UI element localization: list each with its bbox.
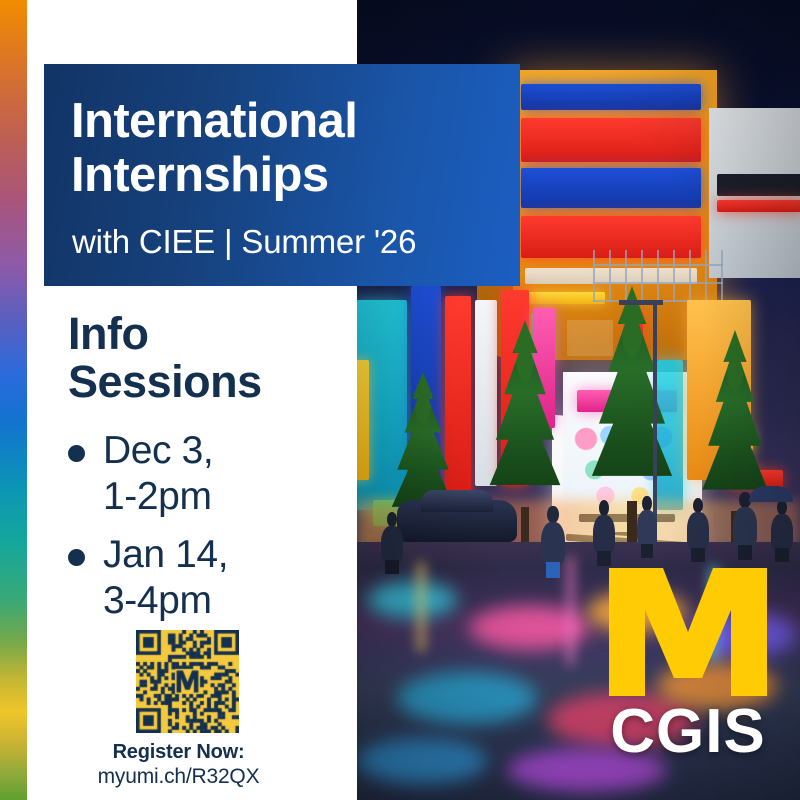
pedestrian (687, 498, 709, 562)
info-heading-line-1: Info (68, 310, 348, 358)
umich-cgis-logo: CGIS (588, 566, 788, 776)
pedestrian (771, 500, 793, 562)
rainbow-gradient-strip (0, 0, 27, 800)
registration-qr-code[interactable] (136, 630, 239, 733)
info-sessions-block: Info Sessions Dec 3, 1-2pm Jan 14, 3-4pm (68, 310, 348, 636)
car-roof (421, 490, 493, 512)
qr-code-canvas[interactable] (136, 630, 239, 733)
session-text: Jan 14, 3-4pm (103, 532, 228, 624)
session-text: Dec 3, 1-2pm (103, 428, 213, 520)
umbrella (749, 486, 793, 502)
pedestrian (593, 500, 615, 566)
session-date: Jan 14, (103, 532, 228, 578)
list-item: Dec 3, 1-2pm (68, 428, 348, 520)
session-time: 1-2pm (103, 474, 213, 520)
title-line-2: Internships (44, 148, 520, 202)
tree (573, 286, 691, 562)
info-heading-line-2: Sessions (68, 358, 348, 406)
register-label: Register Now: (0, 740, 357, 764)
session-list: Dec 3, 1-2pm Jan 14, 3-4pm (68, 428, 348, 624)
register-block: Register Now: myumi.ch/R32QX (0, 740, 357, 790)
register-url[interactable]: myumi.ch/R32QX (0, 764, 357, 790)
title-banner: International Internships with CIEE | Su… (44, 64, 520, 286)
session-time: 3-4pm (103, 578, 228, 624)
flyer-canvas: International Internships with CIEE | Su… (0, 0, 800, 800)
subtitle: with CIEE | Summer '26 (44, 202, 520, 262)
list-item: Jan 14, 3-4pm (68, 532, 348, 624)
bullet-dot-icon (68, 445, 85, 462)
block-m-icon (607, 566, 769, 698)
pedestrian (733, 492, 757, 560)
cgis-wordmark: CGIS (588, 700, 788, 764)
pedestrian (381, 512, 403, 574)
title-line-1: International (44, 64, 520, 148)
bullet-dot-icon (68, 549, 85, 566)
neon-sign-yellow (357, 360, 369, 480)
lamp-arm (619, 300, 663, 305)
pedestrian (637, 496, 657, 558)
pedestrian (541, 506, 565, 578)
session-date: Dec 3, (103, 428, 213, 474)
